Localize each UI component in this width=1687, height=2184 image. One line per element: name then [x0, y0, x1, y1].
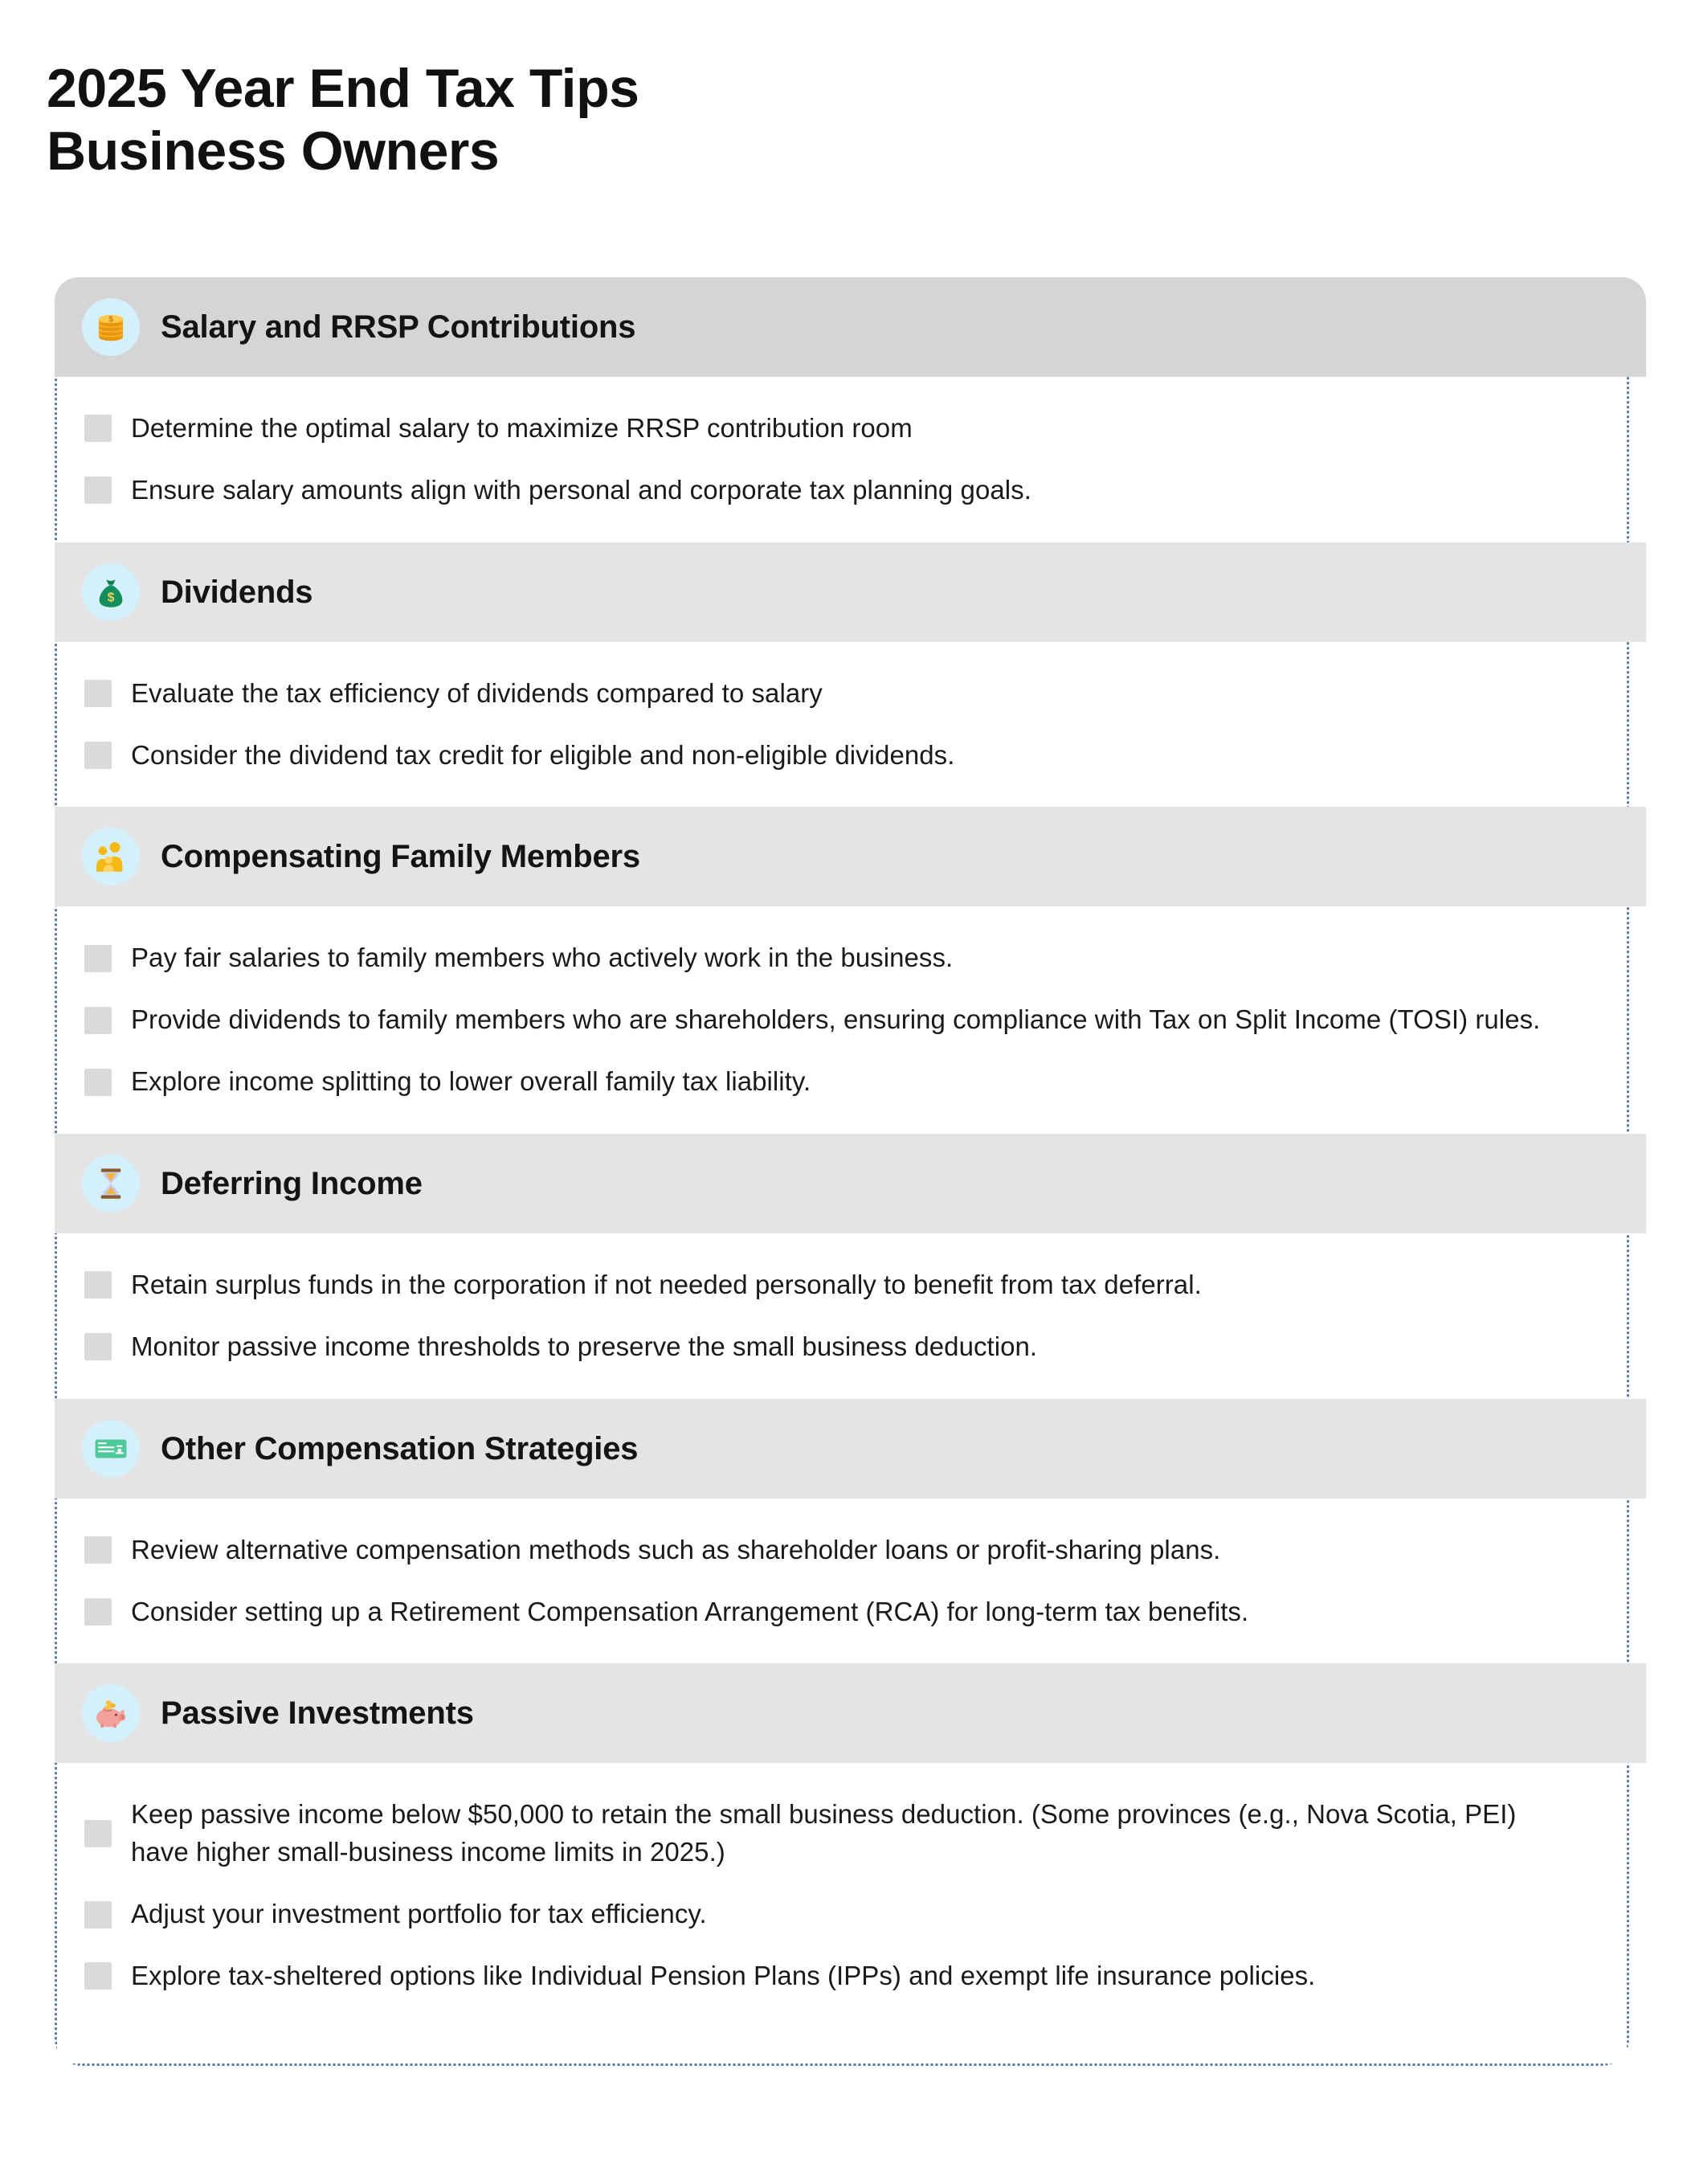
checklist-item[interactable]: Adjust your investment portfolio for tax…	[84, 1883, 1579, 1945]
money-bag-icon	[82, 563, 140, 621]
checklist-item[interactable]: Consider setting up a Retirement Compens…	[84, 1581, 1579, 1643]
coin-stack-icon	[82, 298, 140, 356]
checklist-item[interactable]: Consider the dividend tax credit for eli…	[84, 725, 1579, 787]
checklist-item-label: Pay fair salaries to family members who …	[131, 939, 953, 977]
checklist-item-label: Retain surplus funds in the corporation …	[131, 1266, 1202, 1304]
section-header-salary-and-rrsp-contributions[interactable]: Salary and RRSP Contributions	[55, 277, 1646, 377]
section-items-salary-and-rrsp-contributions: Determine the optimal salary to maximize…	[57, 377, 1627, 542]
checklist-card: Salary and RRSP ContributionsDetermine t…	[55, 277, 1629, 2066]
section-items-dividends: Evaluate the tax efficiency of dividends…	[57, 642, 1627, 808]
checklist-card-wrapper: Salary and RRSP ContributionsDetermine t…	[55, 277, 1629, 2066]
checklist-item-label: Consider the dividend tax credit for eli…	[131, 737, 954, 775]
checklist-item-label: Evaluate the tax efficiency of dividends…	[131, 675, 823, 713]
section-title: Other Compensation Strategies	[161, 1431, 638, 1466]
checklist-item[interactable]: Retain surplus funds in the corporation …	[84, 1254, 1579, 1316]
checkbox-icon[interactable]	[84, 476, 112, 504]
checkbox-icon[interactable]	[84, 945, 112, 972]
section-items-compensating-family-members: Pay fair salaries to family members who …	[57, 906, 1627, 1134]
checklist-item-label: Monitor passive income thresholds to pre…	[131, 1328, 1037, 1366]
checklist-item[interactable]: Evaluate the tax efficiency of dividends…	[84, 663, 1579, 725]
checkbox-icon[interactable]	[84, 1333, 112, 1360]
checklist-item[interactable]: Explore tax-sheltered options like Indiv…	[84, 1945, 1579, 2007]
checklist-item-label: Consider setting up a Retirement Compens…	[131, 1593, 1248, 1631]
checkbox-icon[interactable]	[84, 1271, 112, 1299]
checkbox-icon[interactable]	[84, 1820, 112, 1847]
checklist-item[interactable]: Explore income splitting to lower overal…	[84, 1051, 1579, 1113]
section-title: Salary and RRSP Contributions	[161, 309, 635, 345]
checklist-item-label: Adjust your investment portfolio for tax…	[131, 1896, 707, 1933]
family-group-icon	[82, 828, 140, 885]
checklist-item[interactable]: Review alternative compensation methods …	[84, 1519, 1579, 1581]
section-header-passive-investments[interactable]: Passive Investments	[55, 1663, 1646, 1763]
piggy-bank-icon	[82, 1684, 140, 1742]
checklist-item-label: Explore income splitting to lower overal…	[131, 1063, 811, 1101]
checklist-item[interactable]: Pay fair salaries to family members who …	[84, 927, 1579, 989]
checklist-item[interactable]: Provide dividends to family members who …	[84, 989, 1579, 1051]
checkbox-icon[interactable]	[84, 680, 112, 707]
checkbox-icon[interactable]	[84, 1901, 112, 1928]
checklist-item[interactable]: Monitor passive income thresholds to pre…	[84, 1316, 1579, 1378]
checkbox-icon[interactable]	[84, 415, 112, 442]
section-items-other-compensation-strategies: Review alternative compensation methods …	[57, 1499, 1627, 1664]
checkbox-icon[interactable]	[84, 1536, 112, 1564]
section-header-other-compensation-strategies[interactable]: Other Compensation Strategies	[55, 1399, 1646, 1499]
checkbox-icon[interactable]	[84, 1069, 112, 1096]
checklist-item[interactable]: Keep passive income below $50,000 to ret…	[84, 1784, 1579, 1883]
checklist-item-label: Ensure salary amounts align with persona…	[131, 472, 1031, 509]
checklist-item-label: Determine the optimal salary to maximize…	[131, 410, 913, 448]
section-title: Deferring Income	[161, 1166, 423, 1201]
section-header-deferring-income[interactable]: Deferring Income	[55, 1134, 1646, 1233]
checklist-item-label: Provide dividends to family members who …	[131, 1001, 1540, 1039]
checkbox-icon[interactable]	[84, 1598, 112, 1626]
section-title: Compensating Family Members	[161, 839, 640, 874]
checkbox-icon[interactable]	[84, 1007, 112, 1034]
page-title: 2025 Year End Tax Tips Business Owners	[0, 0, 1687, 182]
section-title: Dividends	[161, 575, 312, 610]
checkbox-icon[interactable]	[84, 742, 112, 769]
section-title: Passive Investments	[161, 1695, 474, 1731]
page-root: 2025 Year End Tax Tips Business Owners S…	[0, 0, 1687, 2184]
checkbox-icon[interactable]	[84, 1962, 112, 1990]
section-items-deferring-income: Retain surplus funds in the corporation …	[57, 1233, 1627, 1399]
checklist-item-label: Keep passive income below $50,000 to ret…	[131, 1796, 1577, 1871]
section-header-dividends[interactable]: Dividends	[55, 542, 1646, 642]
banknote-icon	[82, 1420, 140, 1478]
section-header-compensating-family-members[interactable]: Compensating Family Members	[55, 807, 1646, 906]
checklist-item[interactable]: Ensure salary amounts align with persona…	[84, 460, 1579, 521]
hourglass-icon	[82, 1155, 140, 1213]
section-items-passive-investments: Keep passive income below $50,000 to ret…	[57, 1763, 1627, 2063]
page-title-line-1: 2025 Year End Tax Tips	[47, 58, 1687, 121]
page-title-line-2: Business Owners	[47, 121, 1687, 183]
checklist-item[interactable]: Determine the optimal salary to maximize…	[84, 398, 1579, 460]
checklist-item-label: Explore tax-sheltered options like Indiv…	[131, 1957, 1315, 1995]
checklist-item-label: Review alternative compensation methods …	[131, 1532, 1220, 1569]
